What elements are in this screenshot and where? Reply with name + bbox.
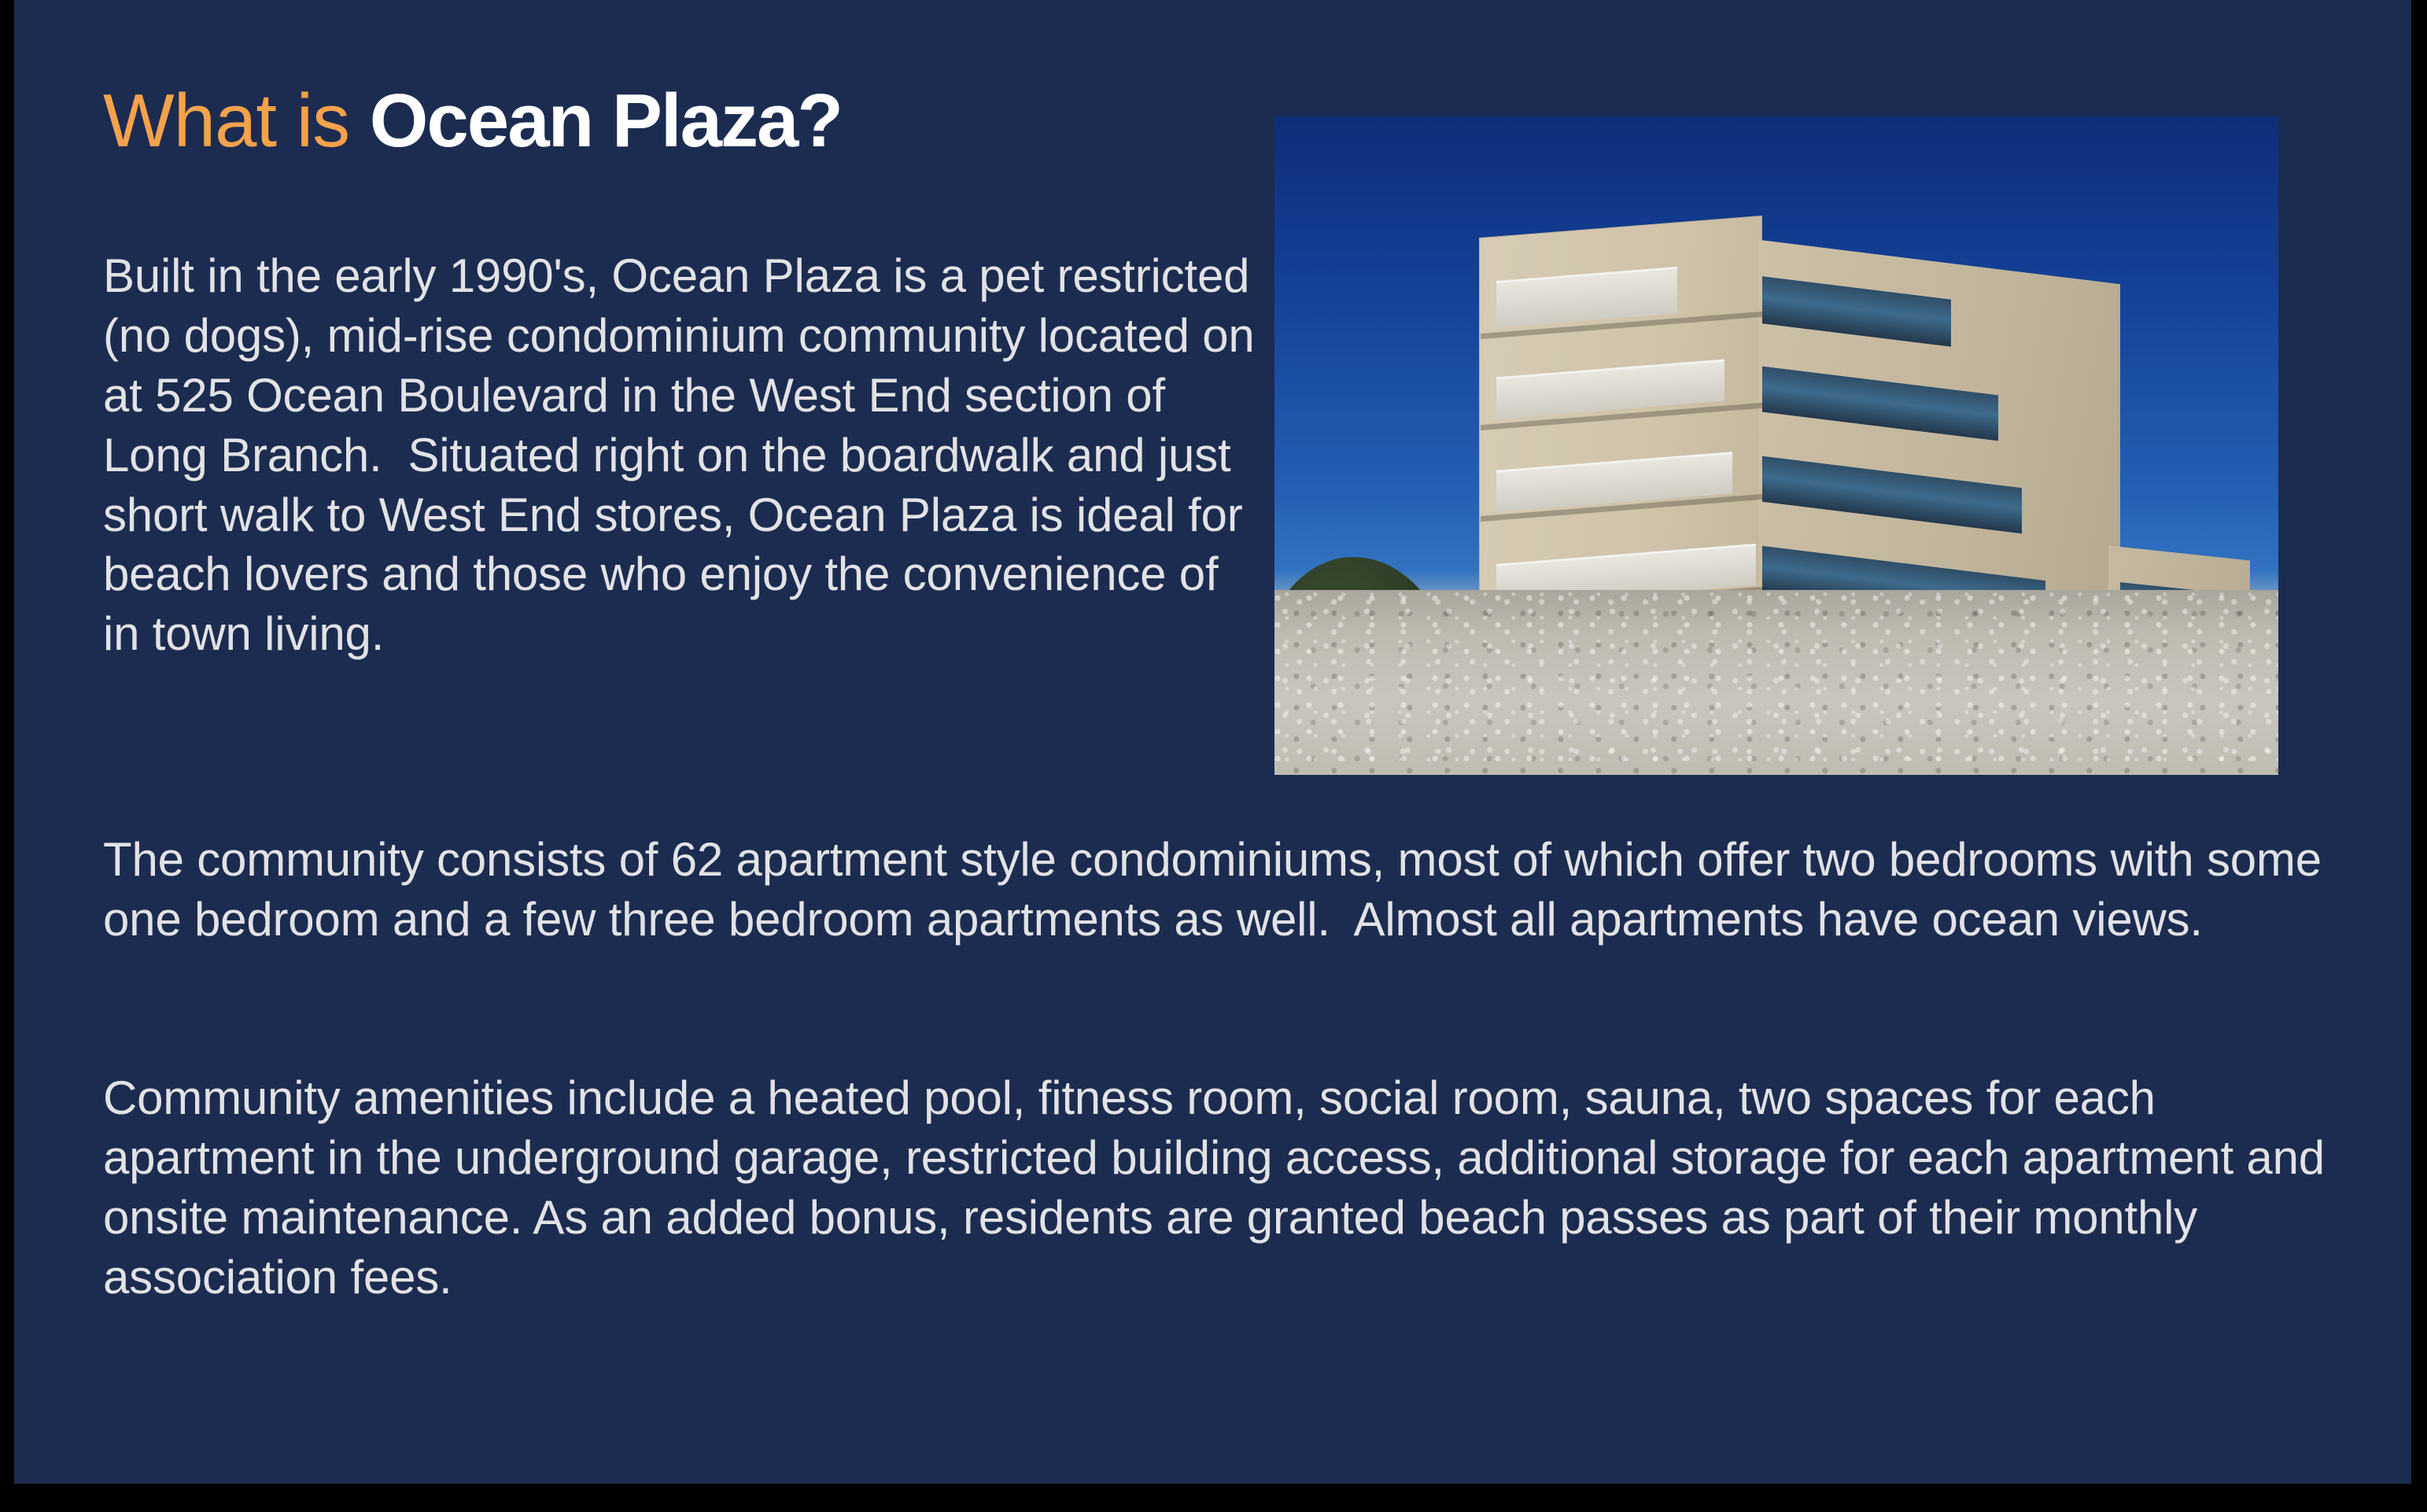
slide-canvas: What is Ocean Plaza? (14, 0, 2411, 1484)
body-paragraph-3: Community amenities include a heated poo… (103, 1068, 2369, 1307)
slide-root: What is Ocean Plaza? (0, 0, 2427, 1512)
title-light-part: What is (103, 79, 370, 163)
body-paragraph-2: The community consists of 62 apartment s… (103, 830, 2329, 950)
photo-sky (1274, 116, 2278, 775)
title-bold-part: Ocean Plaza? (370, 79, 842, 163)
ocean-plaza-building-photo (1274, 116, 2278, 775)
body-paragraph-1: Built in the early 1990's, Ocean Plaza i… (103, 246, 1260, 664)
page-title: What is Ocean Plaza? (103, 83, 842, 159)
photo-gravel-ground (1274, 590, 2278, 775)
